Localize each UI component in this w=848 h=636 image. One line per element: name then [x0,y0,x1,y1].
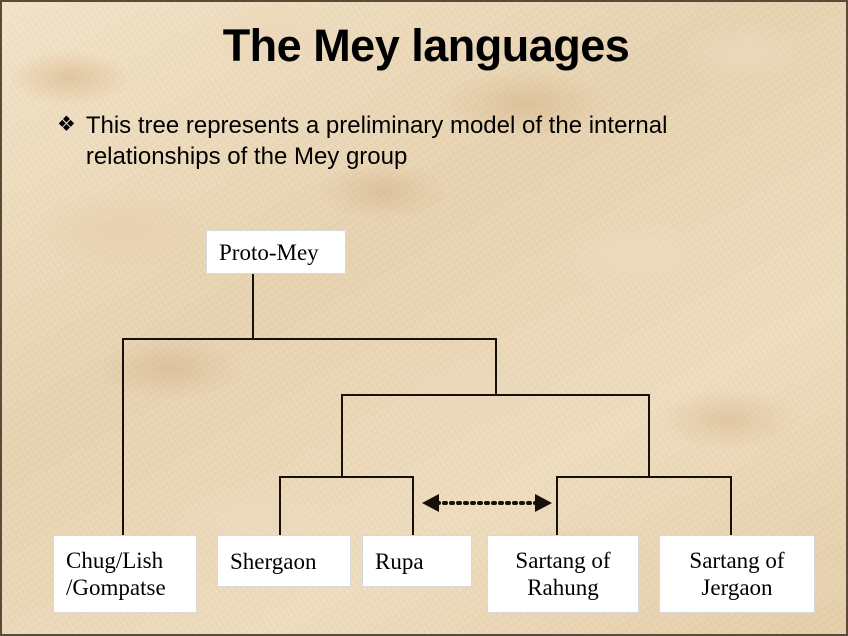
tree-node-label: Chug/Lish /Gompatse [66,547,166,601]
connector-level3-left-bar [279,476,414,478]
language-tree-diagram: Proto-Mey Chug/Lish /Gompatse Shergaon R… [2,2,848,636]
tree-node-sartang-of-jergaon[interactable]: Sartang of Jergaon [659,535,815,613]
tree-node-shergaon[interactable]: Shergaon [217,535,351,587]
tree-node-label: Rupa [375,548,424,575]
tree-node-sartang-of-rahung[interactable]: Sartang of Rahung [487,535,639,613]
connector-level3-left-stem [341,394,343,478]
contact-arrow-icon [417,491,557,515]
slide-canvas: The Mey languages ❖ This tree represents… [0,0,848,636]
connector-rupa-drop [412,476,414,537]
tree-node-rupa[interactable]: Rupa [362,535,472,587]
connector-shergaon-drop [279,476,281,537]
connector-chug-drop [122,338,124,537]
connector-level2-bar [341,394,650,396]
connector-level3-right-stem [648,394,650,478]
connector-sartang-jergaon-drop [730,476,732,537]
tree-node-label: Sartang of Rahung [515,547,610,601]
connector-level3-right-bar [556,476,732,478]
tree-node-chug-lish-gompatse[interactable]: Chug/Lish /Gompatse [53,535,197,613]
tree-node-proto-mey[interactable]: Proto-Mey [206,230,346,274]
connector-level2-stem [495,338,497,396]
tree-node-label: Shergaon [230,548,316,575]
tree-node-label: Proto-Mey [219,239,319,266]
tree-node-label: Sartang of Jergaon [689,547,784,601]
connector-level1-bar [122,338,497,340]
connector-root-stem [252,273,254,340]
